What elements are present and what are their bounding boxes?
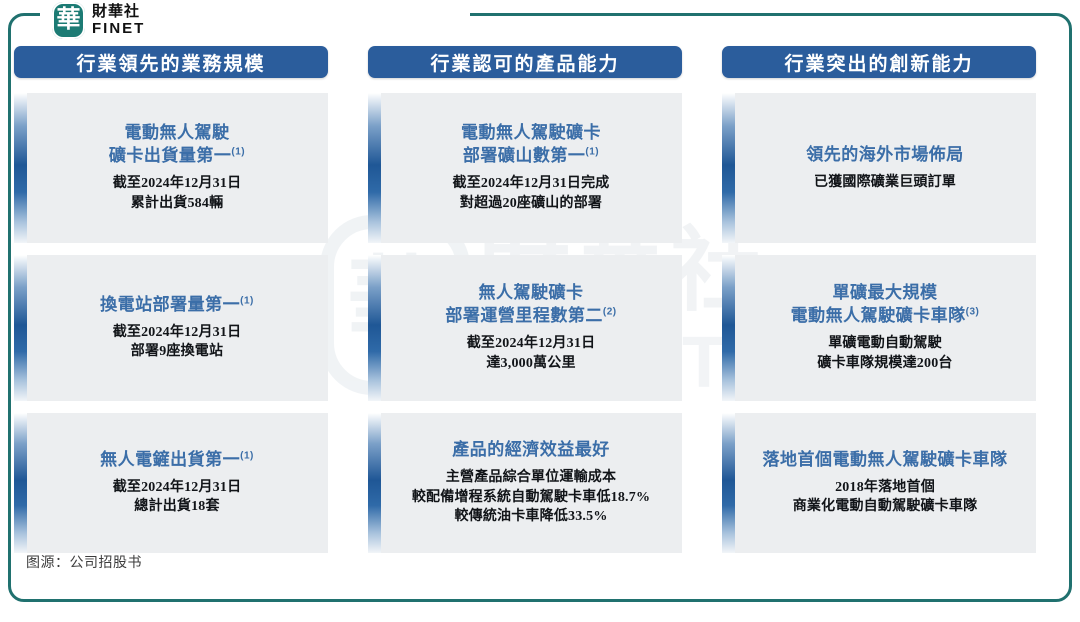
card-body-line: 單礦電動自動駕駛 — [748, 334, 1022, 354]
infographic-root: 華 財華社 FINET 財華社 FINET 行業領先的業務規模電動無人駕駛礦卡出… — [0, 0, 1080, 622]
card-title: 電動無人駕駛礦卡部署礦山數第一(1) — [394, 122, 668, 168]
card-body-line: 截至2024年12月31日 — [40, 323, 314, 343]
card-content: 無人駕駛礦卡部署運營里程數第二(2)截至2024年12月31日達3,000萬公里 — [394, 282, 668, 374]
column-header: 行業領先的業務規模 — [14, 46, 328, 78]
card-body-line: 累計出貨584輛 — [40, 194, 314, 214]
brand-logo: 華 財華社 FINET — [52, 0, 151, 40]
card-title: 電動無人駕駛礦卡出貨量第一(1) — [40, 122, 314, 168]
card-body: 截至2024年12月31日累計出貨584輛 — [40, 174, 314, 214]
brand-name-cn: 財華社 — [92, 4, 145, 19]
card-content: 落地首個電動無人駕駛礦卡車隊2018年落地首個商業化電動自動駕駛礦卡車隊 — [748, 449, 1022, 518]
card-title-line: 領先的海外市場佈局 — [748, 144, 1022, 167]
card-body: 截至2024年12月31日部署9座換電站 — [40, 323, 314, 363]
card-body-line: 部署9座換電站 — [40, 342, 314, 362]
card-content: 領先的海外市場佈局已獲國際礦業巨頭訂單 — [748, 144, 1022, 193]
card-title-line: 電動無人駕駛礦卡 — [394, 122, 668, 145]
card-title-line: 換電站部署量第一(1) — [40, 294, 314, 317]
card-content: 無人電鏟出貨第一(1)截至2024年12月31日總計出貨18套 — [40, 449, 314, 518]
card-title-line: 部署運營里程數第二(2) — [394, 305, 668, 328]
card-body: 單礦電動自動駕駛礦卡車隊規模達200台 — [748, 334, 1022, 374]
column-1: 行業領先的業務規模電動無人駕駛礦卡出貨量第一(1)截至2024年12月31日累計… — [14, 46, 328, 553]
card-accent-strip — [14, 413, 27, 553]
card-content: 單礦最大規模電動無人駕駛礦卡車隊(3)單礦電動自動駕駛礦卡車隊規模達200台 — [748, 282, 1022, 374]
card-body: 截至2024年12月31日完成對超過20座礦山的部署 — [394, 174, 668, 214]
highlight-card: 領先的海外市場佈局已獲國際礦業巨頭訂單 — [722, 93, 1036, 243]
card-accent-strip — [368, 413, 381, 553]
card-footnote-marker: (3) — [966, 306, 980, 317]
highlight-card: 無人電鏟出貨第一(1)截至2024年12月31日總計出貨18套 — [14, 413, 328, 553]
card-accent-strip — [368, 255, 381, 401]
brand-logo-text: 財華社 FINET — [92, 4, 145, 36]
card-content: 電動無人駕駛礦卡出貨量第一(1)截至2024年12月31日累計出貨584輛 — [40, 122, 314, 214]
card-title-line: 產品的經濟效益最好 — [394, 439, 668, 462]
card-body: 2018年落地首個商業化電動自動駕駛礦卡車隊 — [748, 478, 1022, 518]
card-accent-strip — [722, 93, 735, 243]
card-footnote-marker: (1) — [585, 146, 599, 157]
card-list: 電動無人駕駛礦卡出貨量第一(1)截至2024年12月31日累計出貨584輛換電站… — [14, 93, 328, 553]
card-title: 產品的經濟效益最好 — [394, 439, 668, 462]
card-title-line: 部署礦山數第一(1) — [394, 145, 668, 168]
card-title-line: 無人駕駛礦卡 — [394, 282, 668, 305]
card-list: 領先的海外市場佈局已獲國際礦業巨頭訂單單礦最大規模電動無人駕駛礦卡車隊(3)單礦… — [722, 93, 1036, 553]
card-accent-strip — [14, 255, 27, 401]
highlight-card: 換電站部署量第一(1)截至2024年12月31日部署9座換電站 — [14, 255, 328, 401]
card-body: 截至2024年12月31日達3,000萬公里 — [394, 334, 668, 374]
card-body-line: 截至2024年12月31日 — [40, 478, 314, 498]
card-body: 已獲國際礦業巨頭訂單 — [748, 173, 1022, 193]
highlight-card: 單礦最大規模電動無人駕駛礦卡車隊(3)單礦電動自動駕駛礦卡車隊規模達200台 — [722, 255, 1036, 401]
card-title: 單礦最大規模電動無人駕駛礦卡車隊(3) — [748, 282, 1022, 328]
card-body-line: 截至2024年12月31日 — [40, 174, 314, 194]
card-footnote-marker: (1) — [231, 146, 245, 157]
card-body-line: 對超過20座礦山的部署 — [394, 194, 668, 214]
columns-container: 行業領先的業務規模電動無人駕駛礦卡出貨量第一(1)截至2024年12月31日累計… — [14, 46, 1064, 553]
card-title-line: 電動無人駕駛 — [40, 122, 314, 145]
card-content: 電動無人駕駛礦卡部署礦山數第一(1)截至2024年12月31日完成對超過20座礦… — [394, 122, 668, 214]
card-title-line: 單礦最大規模 — [748, 282, 1022, 305]
card-title: 領先的海外市場佈局 — [748, 144, 1022, 167]
card-title-line: 無人電鏟出貨第一(1) — [40, 449, 314, 472]
brand-name-en: FINET — [92, 21, 145, 36]
highlight-card: 產品的經濟效益最好主營產品綜合單位運輸成本較配備增程系統自動駕駛卡車低18.7%… — [368, 413, 682, 553]
card-footnote-marker: (1) — [240, 450, 254, 461]
source-note: 图源：公司招股书 — [26, 552, 142, 572]
card-body-line: 截至2024年12月31日完成 — [394, 174, 668, 194]
card-body-line: 截至2024年12月31日 — [394, 334, 668, 354]
card-body-line: 主營產品綜合單位運輸成本 — [394, 468, 668, 488]
card-body-line: 達3,000萬公里 — [394, 354, 668, 374]
card-list: 電動無人駕駛礦卡部署礦山數第一(1)截至2024年12月31日完成對超過20座礦… — [368, 93, 682, 553]
card-body-line: 礦卡車隊規模達200台 — [748, 354, 1022, 374]
card-body-line: 總計出貨18套 — [40, 497, 314, 517]
card-title: 無人駕駛礦卡部署運營里程數第二(2) — [394, 282, 668, 328]
card-accent-strip — [368, 93, 381, 243]
card-title: 無人電鏟出貨第一(1) — [40, 449, 314, 472]
card-accent-strip — [722, 255, 735, 401]
card-body: 主營產品綜合單位運輸成本較配備增程系統自動駕駛卡車低18.7%較傳統油卡車降低3… — [394, 468, 668, 528]
column-header: 行業認可的產品能力 — [368, 46, 682, 78]
card-content: 產品的經濟效益最好主營產品綜合單位運輸成本較配備增程系統自動駕駛卡車低18.7%… — [394, 439, 668, 528]
card-footnote-marker: (2) — [603, 306, 617, 317]
card-title-line: 礦卡出貨量第一(1) — [40, 145, 314, 168]
card-body-line: 2018年落地首個 — [748, 478, 1022, 498]
highlight-card: 無人駕駛礦卡部署運營里程數第二(2)截至2024年12月31日達3,000萬公里 — [368, 255, 682, 401]
card-title-line: 電動無人駕駛礦卡車隊(3) — [748, 305, 1022, 328]
highlight-card: 落地首個電動無人駕駛礦卡車隊2018年落地首個商業化電動自動駕駛礦卡車隊 — [722, 413, 1036, 553]
card-body-line: 商業化電動自動駕駛礦卡車隊 — [748, 497, 1022, 517]
card-content: 換電站部署量第一(1)截至2024年12月31日部署9座換電站 — [40, 294, 314, 363]
card-title: 落地首個電動無人駕駛礦卡車隊 — [748, 449, 1022, 472]
card-body-line: 較傳統油卡車降低33.5% — [394, 507, 668, 527]
column-3: 行業突出的創新能力領先的海外市場佈局已獲國際礦業巨頭訂單單礦最大規模電動無人駕駛… — [722, 46, 1036, 553]
hua-logo-icon: 華 — [52, 2, 85, 39]
card-body-line: 已獲國際礦業巨頭訂單 — [748, 173, 1022, 193]
column-2: 行業認可的產品能力電動無人駕駛礦卡部署礦山數第一(1)截至2024年12月31日… — [368, 46, 682, 553]
card-accent-strip — [14, 93, 27, 243]
column-header: 行業突出的創新能力 — [722, 46, 1036, 78]
highlight-card: 電動無人駕駛礦卡出貨量第一(1)截至2024年12月31日累計出貨584輛 — [14, 93, 328, 243]
card-title: 換電站部署量第一(1) — [40, 294, 314, 317]
card-accent-strip — [722, 413, 735, 553]
card-title-line: 落地首個電動無人駕駛礦卡車隊 — [748, 449, 1022, 472]
card-footnote-marker: (1) — [240, 295, 254, 306]
highlight-card: 電動無人駕駛礦卡部署礦山數第一(1)截至2024年12月31日完成對超過20座礦… — [368, 93, 682, 243]
card-body: 截至2024年12月31日總計出貨18套 — [40, 478, 314, 518]
card-body-line: 較配備增程系統自動駕駛卡車低18.7% — [394, 488, 668, 508]
